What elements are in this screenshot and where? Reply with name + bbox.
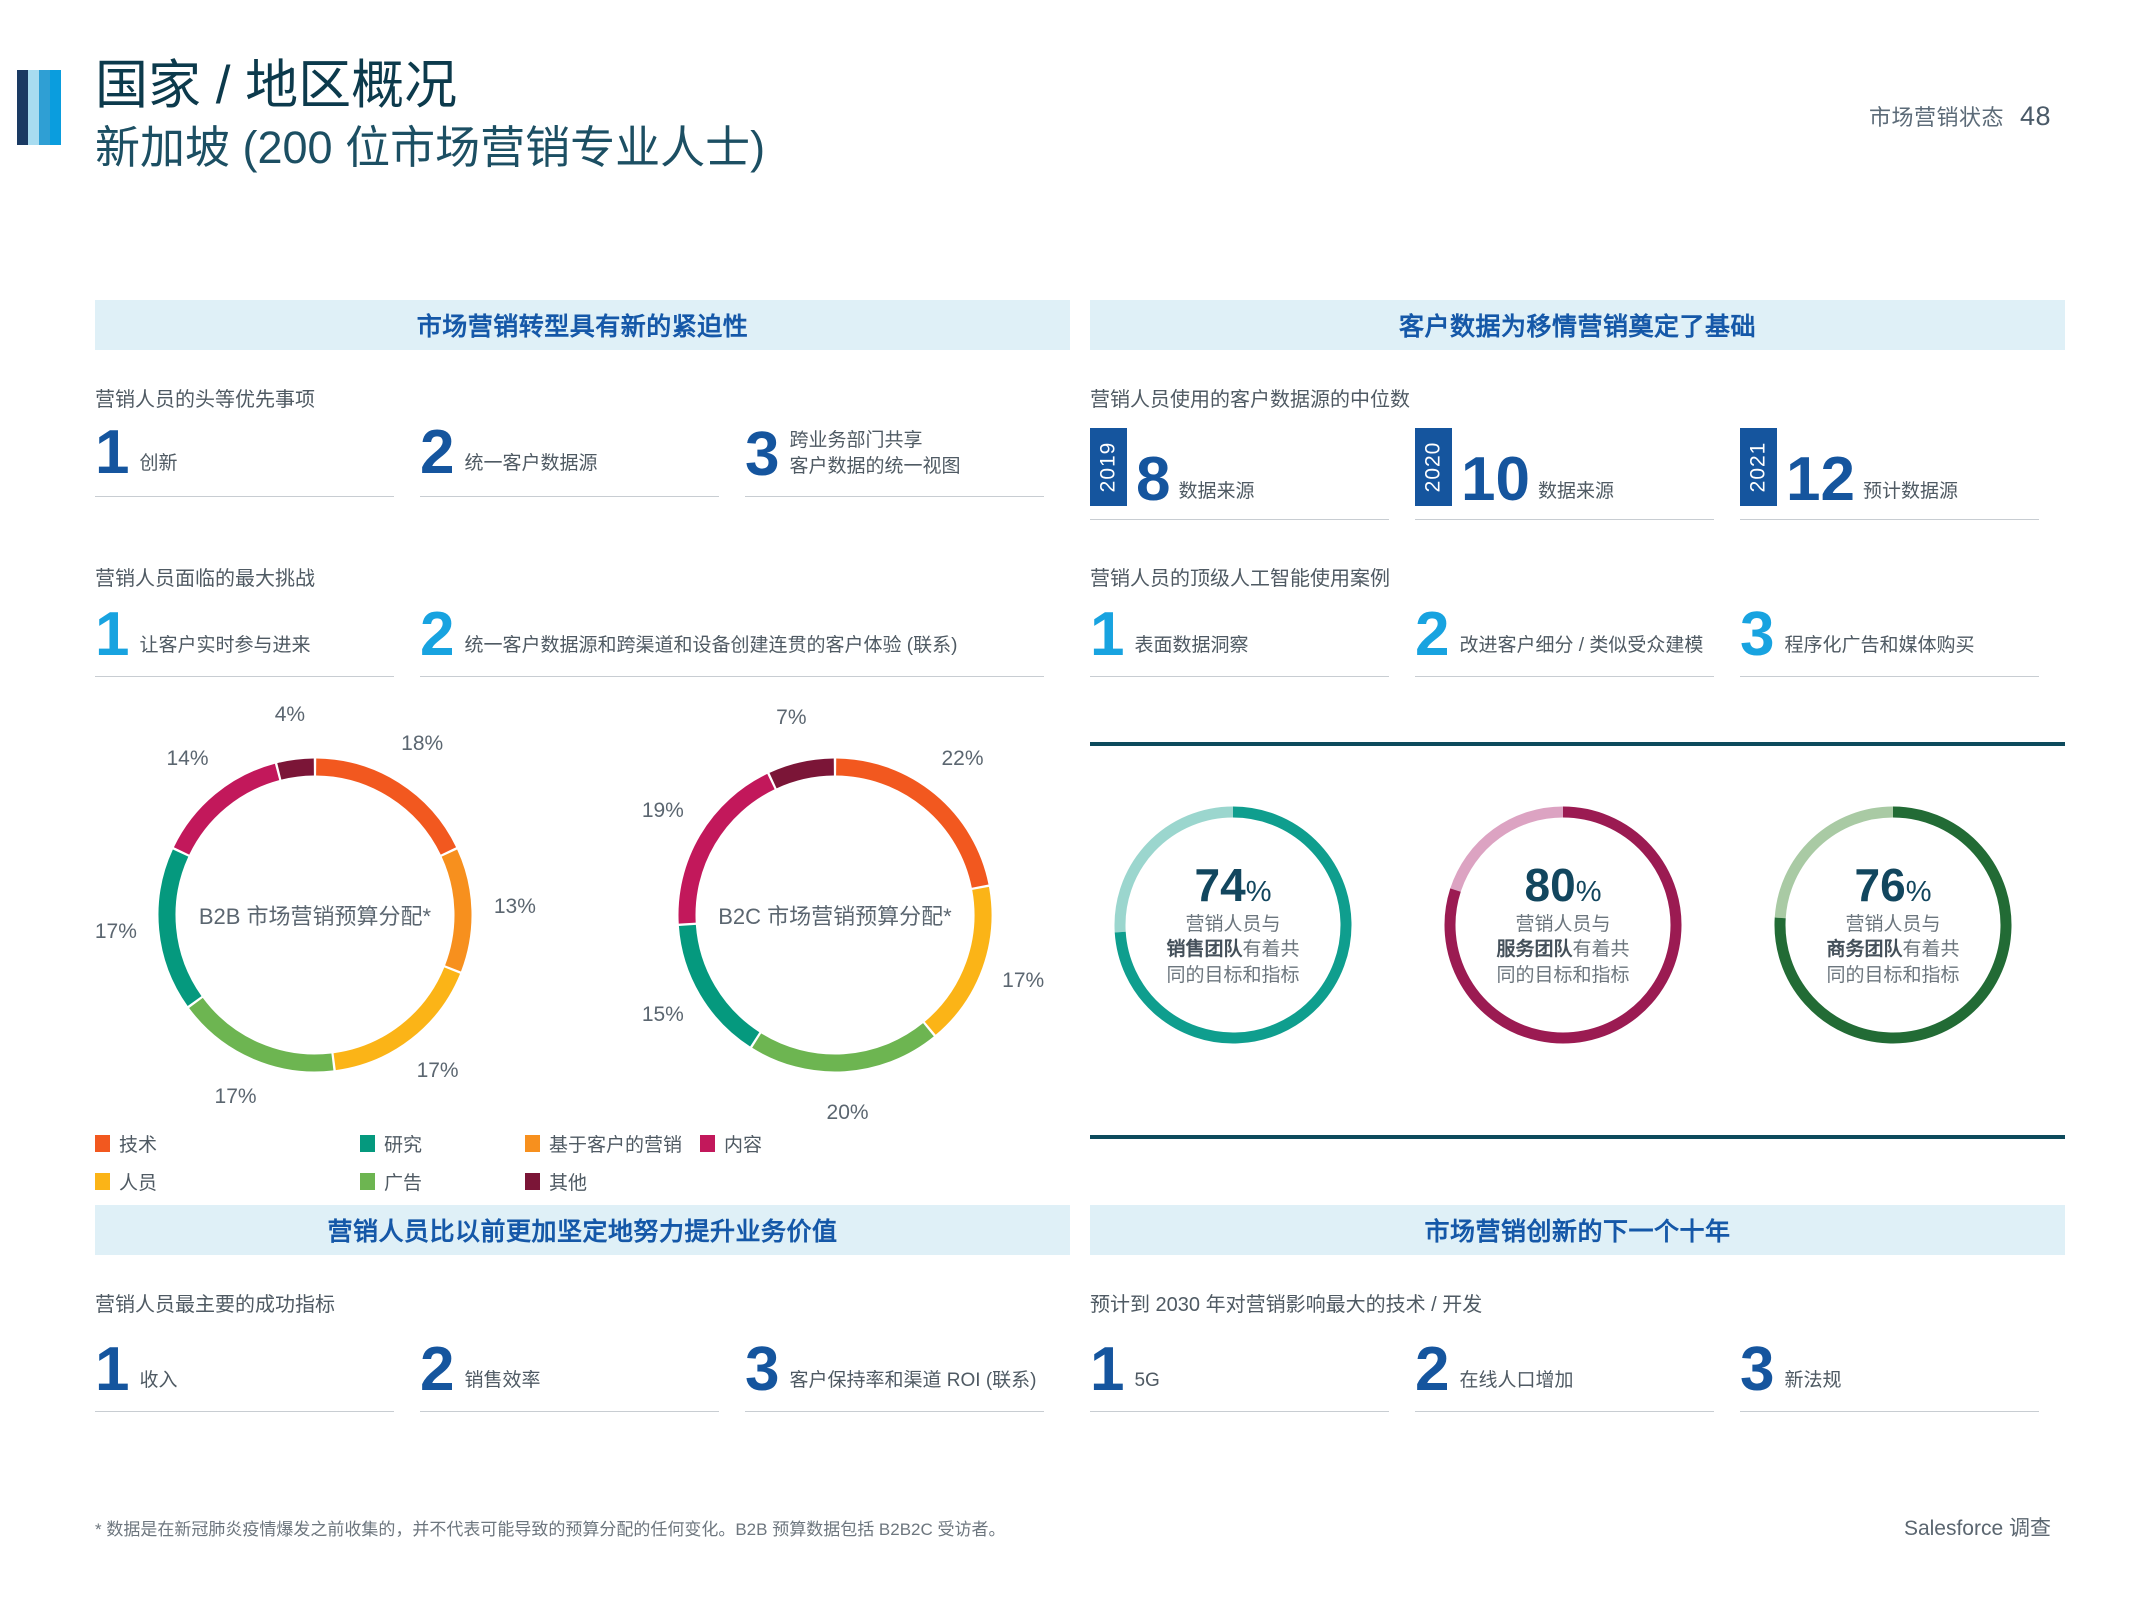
list-item[interactable]: 1 收入	[95, 1345, 420, 1412]
list-item[interactable]: 1 让客户实时参与进来	[95, 610, 420, 677]
ring-percent-value: 74	[1195, 859, 1246, 911]
donut-segment-label: 18%	[401, 732, 443, 756]
item-label: 创新	[139, 451, 177, 479]
rank-number: 2	[420, 1345, 454, 1396]
ring-desc-line2: 有着共	[1903, 939, 1960, 960]
list-future-tech: 1 5G 2 在线人口增加 3 新法规	[1090, 1345, 2065, 1412]
alignment-ring-sales: 74% 营销人员与 销售团队有着共 同的目标和指标	[1108, 800, 1358, 1050]
donut-segment-label: 22%	[941, 747, 983, 771]
item-label: 在线人口增加	[1459, 1368, 1573, 1396]
list-item[interactable]: 2019 8 数据来源	[1090, 428, 1415, 520]
donut-b2b-title: B2B 市场营销预算分配*	[140, 740, 490, 1090]
ring-desc-line3: 同的目标和指标	[1166, 965, 1299, 986]
item-label: 收入	[139, 1368, 177, 1396]
legend-swatch	[95, 1135, 110, 1152]
year-value: 12	[1786, 455, 1855, 506]
alignment-ring-sales-label: 74% 营销人员与 销售团队有着共 同的目标和指标	[1108, 800, 1358, 1050]
year-caption: 数据来源	[1178, 476, 1254, 506]
brand-bar-4	[50, 70, 61, 145]
ring-desc-line1: 营销人员与	[1845, 914, 1940, 935]
legend-swatch	[700, 1135, 715, 1152]
list-item[interactable]: 2021 12 预计数据源	[1740, 428, 2065, 520]
brand-accent-bars	[17, 70, 61, 145]
footer-brand: Salesforce 调查	[1904, 1512, 2051, 1542]
panel-heading-text: 客户数据为移情营销奠定了基础	[1399, 307, 1756, 343]
list-item[interactable]: 3 跨业务部门共享 客户数据的统一视图	[745, 428, 1070, 497]
legend-item: 人员	[95, 1168, 360, 1195]
item-label: 统一客户数据源	[464, 451, 597, 479]
year-caption: 数据来源	[1538, 476, 1614, 506]
year-label: 2021	[1747, 442, 1771, 493]
rank-number: 3	[745, 430, 779, 481]
donut-segment-label: 7%	[776, 706, 806, 730]
legend-label: 基于客户的营销	[549, 1130, 682, 1157]
page-number: 48	[2020, 101, 2051, 131]
item-label: 销售效率	[464, 1368, 540, 1396]
item-label: 统一客户数据源和跨渠道和设备创建连贯的客户体验 (联系)	[464, 633, 957, 661]
item-label: 客户保持率和渠道 ROI (联系)	[789, 1368, 1036, 1396]
list-item[interactable]: 3 新法规	[1740, 1345, 2065, 1412]
legend-swatch	[525, 1135, 540, 1152]
list-item[interactable]: 2 在线人口增加	[1415, 1345, 1740, 1412]
rank-number: 2	[1415, 1345, 1449, 1396]
legend-label: 广告	[384, 1168, 422, 1195]
item-label: 5G	[1134, 1368, 1159, 1396]
report-name: 市场营销状态	[1869, 105, 2004, 130]
donut-segment-label: 17%	[417, 1059, 459, 1083]
list-item[interactable]: 2 统一客户数据源和跨渠道和设备创建连贯的客户体验 (联系)	[420, 610, 1070, 677]
ring-description: 营销人员与 销售团队有着共 同的目标和指标	[1166, 912, 1299, 987]
ring-percent-symbol: %	[1246, 876, 1272, 908]
ring-desc-team: 销售团队	[1166, 939, 1242, 960]
legend-swatch	[525, 1173, 540, 1190]
ring-percent: 74%	[1195, 862, 1272, 908]
list-item[interactable]: 3 程序化广告和媒体购买	[1740, 610, 2065, 677]
ring-desc-line2: 有着共	[1573, 939, 1630, 960]
list-biggest-challenges: 1 让客户实时参与进来 2 统一客户数据源和跨渠道和设备创建连贯的客户体验 (联…	[95, 610, 1070, 677]
list-item[interactable]: 2 改进客户细分 / 类似受众建模	[1415, 610, 1740, 677]
legend-label: 人员	[119, 1168, 157, 1195]
legend-swatch	[95, 1173, 110, 1190]
ring-desc-team: 服务团队	[1496, 939, 1572, 960]
item-label: 新法规	[1784, 1368, 1841, 1396]
label-success-metrics: 营销人员最主要的成功指标	[95, 1288, 335, 1317]
panel-heading-customer-data: 客户数据为移情营销奠定了基础	[1090, 300, 2065, 350]
year-badge: 2020	[1415, 428, 1452, 506]
ring-desc-line1: 营销人员与	[1185, 914, 1280, 935]
budget-legend: 技术研究基于客户的营销内容人员广告其他	[95, 1130, 995, 1195]
divider-top-alignment	[1090, 742, 2065, 746]
donut-chart-b2b: B2B 市场营销预算分配*	[140, 740, 490, 1090]
panel-heading-text: 市场营销创新的下一个十年	[1424, 1212, 1730, 1248]
list-item[interactable]: 1 创新	[95, 428, 420, 497]
panel-heading-text: 市场营销转型具有新的紧迫性	[417, 307, 749, 343]
legend-label: 内容	[724, 1130, 762, 1157]
donut-segment-label: 14%	[166, 747, 208, 771]
ring-desc-line3: 同的目标和指标	[1826, 965, 1959, 986]
alignment-ring-commerce: 76% 营销人员与 商务团队有着共 同的目标和指标	[1768, 800, 2018, 1050]
year-badge: 2021	[1740, 428, 1777, 506]
legend-label: 研究	[384, 1130, 422, 1157]
legend-label: 技术	[119, 1130, 157, 1157]
donut-segment-label: 4%	[275, 703, 305, 727]
infographic-page: 国家 / 地区概况 新加坡 (200 位市场营销专业人士) 市场营销状态48 市…	[0, 0, 2133, 1600]
legend-item: 广告	[360, 1168, 525, 1195]
donut-segment-label: 20%	[827, 1101, 869, 1125]
list-top-priorities: 1 创新 2 统一客户数据源 3 跨业务部门共享 客户数据的统一视图	[95, 428, 1070, 497]
divider-bottom-alignment	[1090, 1135, 2065, 1139]
donut-segment-label: 17%	[215, 1085, 257, 1109]
donut-b2c-title: B2C 市场营销预算分配*	[660, 740, 1010, 1090]
legend-item: 其他	[525, 1168, 700, 1195]
ring-percent: 80%	[1525, 862, 1602, 908]
header-meta: 市场营销状态48	[1869, 100, 2051, 132]
list-data-source-years: 2019 8 数据来源 2020 10 数据来源 2021 12 预计数据源	[1090, 428, 2065, 520]
item-label: 表面数据洞察	[1134, 633, 1248, 661]
legend-swatch	[360, 1135, 375, 1152]
donut-segment-label: 17%	[95, 920, 137, 944]
list-item[interactable]: 1 5G	[1090, 1345, 1415, 1412]
item-label: 让客户实时参与进来	[139, 633, 310, 661]
ring-percent-value: 76	[1855, 859, 1906, 911]
rank-number: 1	[95, 1345, 129, 1396]
alignment-ring-service: 80% 营销人员与 服务团队有着共 同的目标和指标	[1438, 800, 1688, 1050]
alignment-ring-commerce-label: 76% 营销人员与 商务团队有着共 同的目标和指标	[1768, 800, 2018, 1050]
list-item[interactable]: 2 销售效率	[420, 1345, 745, 1412]
year-label: 2020	[1422, 442, 1446, 493]
page-subtitle: 新加坡 (200 位市场营销专业人士)	[95, 120, 765, 176]
ring-percent-symbol: %	[1906, 876, 1932, 908]
ring-desc-team: 商务团队	[1826, 939, 1902, 960]
panel-heading-text: 营销人员比以前更加坚定地努力提升业务价值	[327, 1212, 837, 1248]
ring-desc-line3: 同的目标和指标	[1496, 965, 1629, 986]
donut-segment-label: 17%	[1002, 969, 1044, 993]
donut-chart-b2c: B2C 市场营销预算分配*	[660, 740, 1010, 1090]
rank-number: 2	[420, 428, 454, 479]
rank-number: 3	[1740, 610, 1774, 661]
footnote: * 数据是在新冠肺炎疫情爆发之前收集的，并不代表可能导致的预算分配的任何变化。B…	[95, 1515, 1006, 1540]
label-median-data-sources: 营销人员使用的客户数据源的中位数	[1090, 383, 1410, 412]
label-top-priorities: 营销人员的头等优先事项	[95, 383, 315, 412]
legend-item: 研究	[360, 1130, 525, 1157]
year-label: 2019	[1097, 442, 1121, 493]
rank-number: 3	[1740, 1345, 1774, 1396]
item-label: 跨业务部门共享 客户数据的统一视图	[789, 428, 960, 481]
ring-description: 营销人员与 服务团队有着共 同的目标和指标	[1496, 912, 1629, 987]
donut-segment-label: 15%	[642, 1003, 684, 1027]
page-title: 国家 / 地区概况	[95, 55, 765, 118]
list-item[interactable]: 2020 10 数据来源	[1415, 428, 1740, 520]
panel-heading-marketing-transformation: 市场营销转型具有新的紧迫性	[95, 300, 1070, 350]
page-header: 国家 / 地区概况 新加坡 (200 位市场营销专业人士) 市场营销状态48	[0, 70, 2133, 210]
legend-item: 基于客户的营销	[525, 1130, 700, 1157]
donut-segment-label: 13%	[494, 895, 536, 919]
rank-number: 1	[95, 428, 129, 479]
year-badge: 2019	[1090, 428, 1127, 506]
ring-desc-line1: 营销人员与	[1515, 914, 1610, 935]
rank-number: 2	[1415, 610, 1449, 661]
ring-percent-symbol: %	[1576, 876, 1602, 908]
label-biggest-challenges: 营销人员面临的最大挑战	[95, 562, 315, 591]
list-success-metrics: 1 收入 2 销售效率 3 客户保持率和渠道 ROI (联系)	[95, 1345, 1070, 1412]
rank-number: 2	[420, 610, 454, 661]
label-future-tech: 预计到 2030 年对营销影响最大的技术 / 开发	[1090, 1288, 1482, 1317]
panel-heading-next-decade: 市场营销创新的下一个十年	[1090, 1205, 2065, 1255]
list-item[interactable]: 1 表面数据洞察	[1090, 610, 1415, 677]
ring-percent: 76%	[1855, 862, 1932, 908]
ring-description: 营销人员与 商务团队有着共 同的目标和指标	[1826, 912, 1959, 987]
ring-percent-value: 80	[1525, 859, 1576, 911]
year-value: 8	[1136, 455, 1170, 506]
list-ai-use-cases: 1 表面数据洞察 2 改进客户细分 / 类似受众建模 3 程序化广告和媒体购买	[1090, 610, 2065, 677]
legend-item: 技术	[95, 1130, 360, 1157]
alignment-ring-service-label: 80% 营销人员与 服务团队有着共 同的目标和指标	[1438, 800, 1688, 1050]
legend-item: 内容	[700, 1130, 995, 1157]
label-ai-use-cases: 营销人员的顶级人工智能使用案例	[1090, 562, 1390, 591]
rank-number: 3	[745, 1345, 779, 1396]
legend-label: 其他	[549, 1168, 587, 1195]
list-item[interactable]: 2 统一客户数据源	[420, 428, 745, 497]
title-block: 国家 / 地区概况 新加坡 (200 位市场营销专业人士)	[95, 55, 765, 176]
year-caption: 预计数据源	[1863, 476, 1958, 506]
brand-bar-3	[39, 70, 50, 145]
legend-swatch	[360, 1173, 375, 1190]
panel-heading-business-value: 营销人员比以前更加坚定地努力提升业务价值	[95, 1205, 1070, 1255]
item-label: 程序化广告和媒体购买	[1784, 633, 1974, 661]
list-item[interactable]: 3 客户保持率和渠道 ROI (联系)	[745, 1345, 1070, 1412]
brand-bar-1	[17, 70, 28, 145]
rank-number: 1	[1090, 1345, 1124, 1396]
year-value: 10	[1461, 455, 1530, 506]
rank-number: 1	[1090, 610, 1124, 661]
rank-number: 1	[95, 610, 129, 661]
ring-desc-line2: 有着共	[1243, 939, 1300, 960]
item-label: 改进客户细分 / 类似受众建模	[1459, 633, 1703, 661]
donut-segment-label: 19%	[642, 799, 684, 823]
brand-bar-2	[28, 70, 39, 145]
